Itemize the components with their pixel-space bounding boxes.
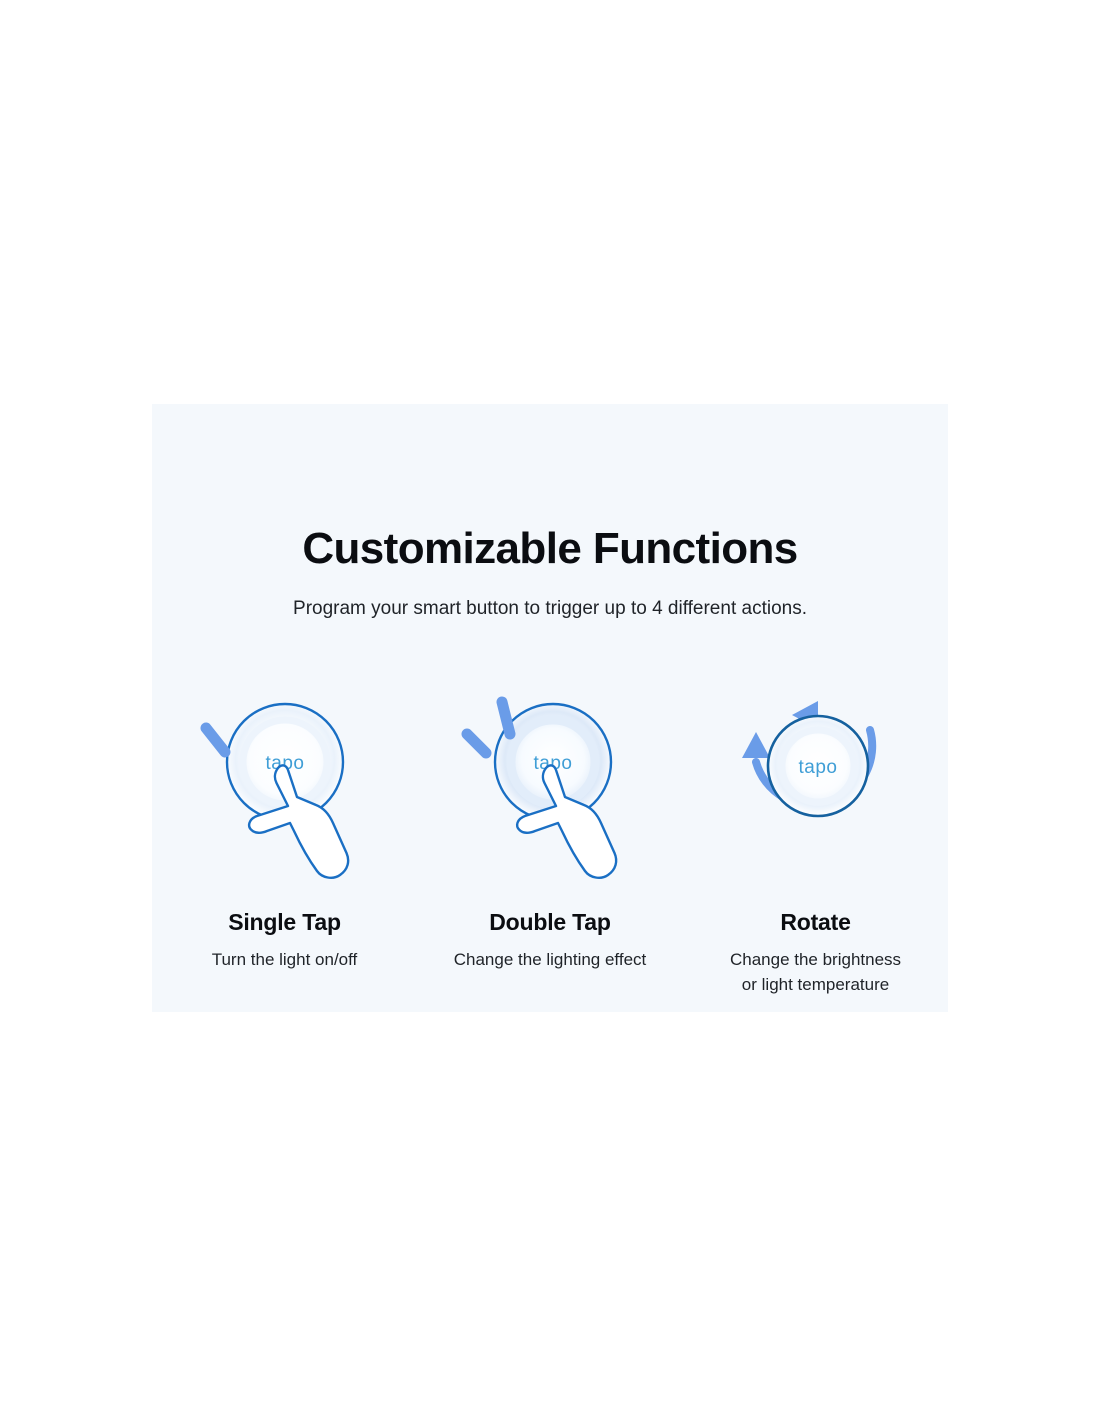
tapo-logo-text: tapo bbox=[798, 757, 837, 778]
tap-tick-icon bbox=[502, 702, 510, 734]
features-row: tapo Single Tap Turn the light on/off bbox=[152, 690, 948, 997]
feature-label: Rotate bbox=[780, 908, 850, 936]
rotate-arrowhead-up-icon bbox=[742, 732, 770, 758]
feature-label: Single Tap bbox=[228, 908, 341, 936]
single-tap-icon: tapo bbox=[185, 690, 385, 908]
page-subtitle: Program your smart button to trigger up … bbox=[152, 574, 948, 622]
double-tap-icon: tapo bbox=[453, 690, 653, 908]
feature-item-rotate: tapo Rotate Change the brightness or lig… bbox=[683, 690, 948, 997]
tap-tick-icon bbox=[206, 728, 225, 752]
page-title: Customizable Functions bbox=[152, 404, 948, 574]
feature-description: Change the lighting effect bbox=[454, 936, 647, 972]
feature-item-single-tap: tapo Single Tap Turn the light on/off bbox=[152, 690, 417, 972]
tap-tick-icon bbox=[467, 734, 486, 753]
feature-description: Turn the light on/off bbox=[212, 936, 358, 972]
feature-label: Double Tap bbox=[489, 908, 611, 936]
feature-item-double-tap: tapo Double Tap Change the lighting effe… bbox=[418, 690, 683, 972]
card-header: Customizable Functions Program your smar… bbox=[152, 404, 948, 622]
customizable-functions-card: Customizable Functions Program your smar… bbox=[152, 404, 948, 1012]
feature-description: Change the brightness or light temperatu… bbox=[730, 936, 901, 997]
rotate-icon: tapo bbox=[718, 690, 918, 908]
